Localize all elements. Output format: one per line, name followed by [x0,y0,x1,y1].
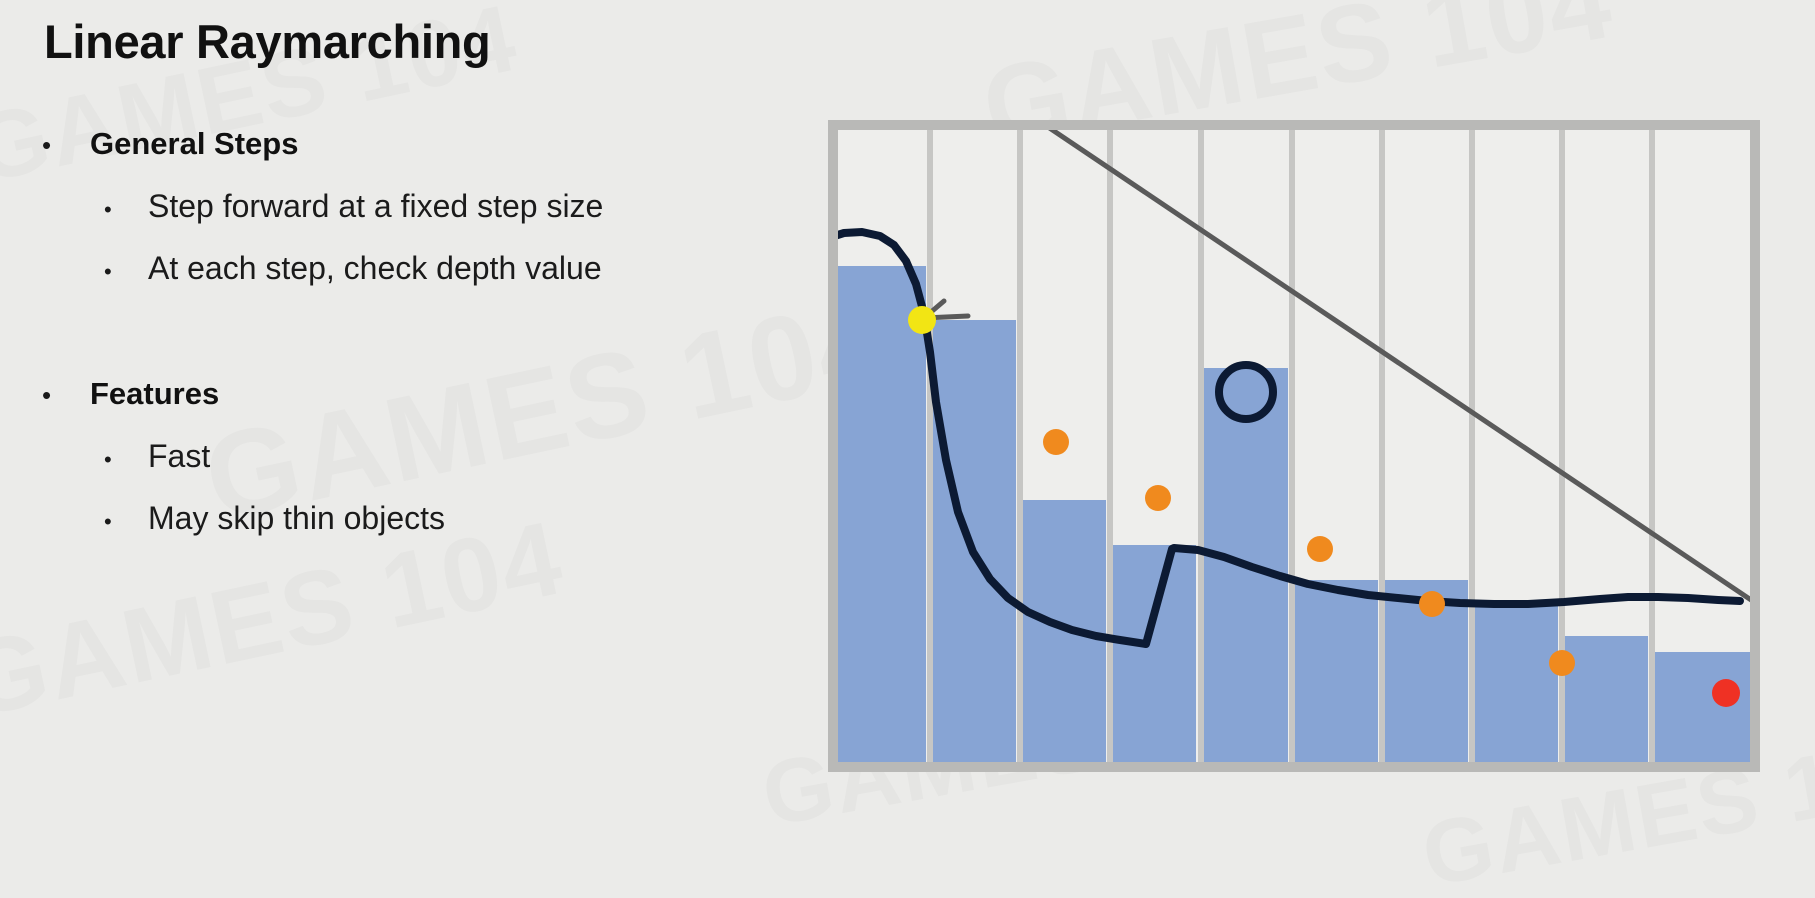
bar-9 [1560,636,1648,762]
column-divider-2 [1017,130,1023,762]
column-divider-3 [1107,130,1113,762]
bar-4 [1108,545,1196,762]
ray-step-point-1 [1043,429,1069,455]
bullet-step-forward: • Step forward at a fixed step size [104,188,603,225]
bar-10 [1650,652,1750,762]
bullet-marker-icon: • [42,382,90,408]
bar-6 [1290,580,1378,762]
bullet-marker-icon: • [104,449,148,471]
bullet-label: May skip thin objects [148,500,445,537]
bullet-marker-icon: • [104,261,148,283]
bullet-features: • Features [42,376,219,412]
page-title: Linear Raymarching [44,14,490,69]
bullet-label: Step forward at a fixed step size [148,188,603,225]
column-divider-6 [1379,130,1385,762]
column-divider-5 [1289,130,1295,762]
column-divider-4 [1198,130,1204,762]
bullet-label: At each step, check depth value [148,250,602,287]
slide-root: GAMES 104 GAMES 104 GAMES 104 GAMES 104 … [0,0,1815,898]
bullet-general-steps: • General Steps [42,126,298,162]
bullet-fast: • Fast [104,438,210,475]
bullet-check-depth: • At each step, check depth value [104,250,602,287]
bullet-label: General Steps [90,126,298,162]
ray-hit-point [1712,679,1740,707]
bullet-marker-icon: • [104,199,148,221]
bar-3 [1018,500,1106,762]
diagram-canvas [828,120,1760,772]
ray-step-point-5 [1549,650,1575,676]
column-divider-1 [927,130,933,762]
bar-1 [838,266,926,762]
column-divider-7 [1469,130,1475,762]
ray-step-point-2 [1145,485,1171,511]
bar-8 [1470,602,1558,762]
bullet-label: Features [90,376,219,412]
bullet-label: Fast [148,438,210,475]
bullet-marker-icon: • [42,132,90,158]
column-divider-9 [1649,130,1655,762]
ray-start-point [908,306,936,334]
ray-step-point-3 [1307,536,1333,562]
linear-raymarching-diagram [828,120,1760,772]
ray-step-point-4 [1419,591,1445,617]
bullet-marker-icon: • [104,511,148,533]
bullet-may-skip-thin-objects: • May skip thin objects [104,500,445,537]
